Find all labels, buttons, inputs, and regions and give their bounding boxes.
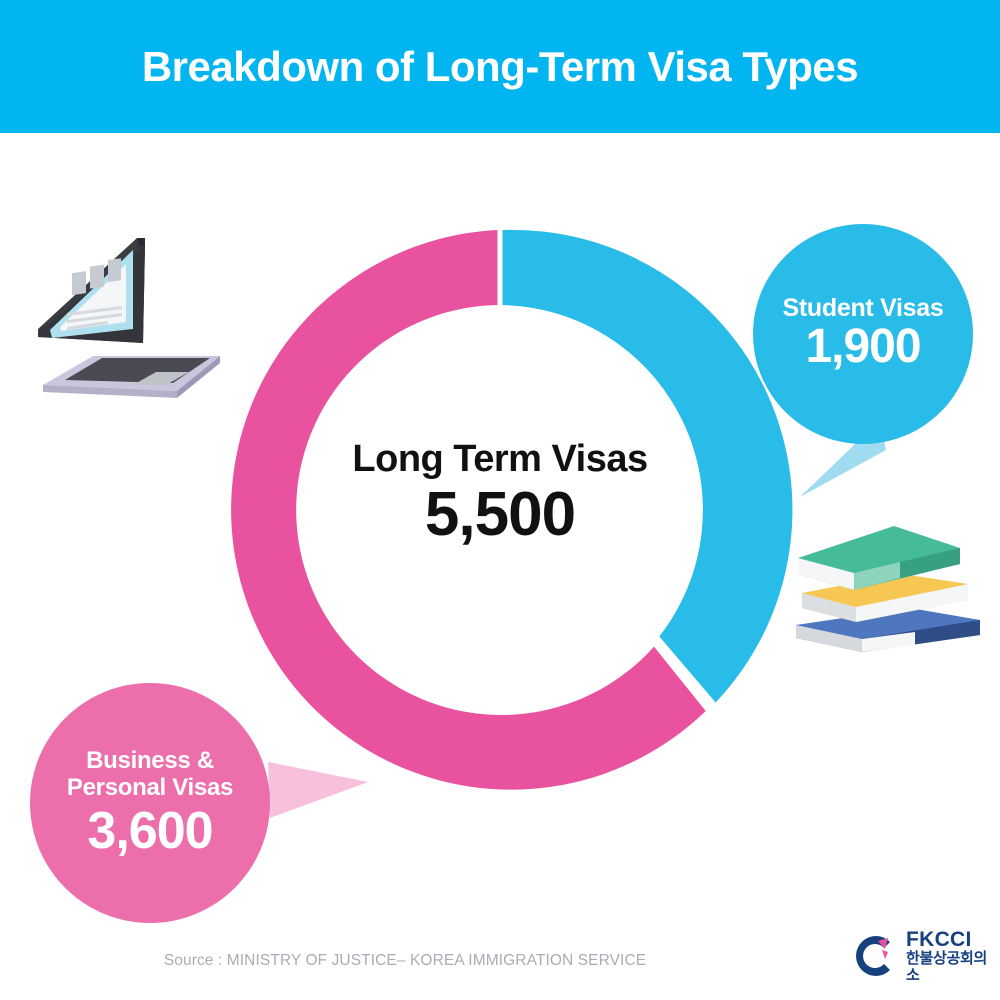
fkcci-logo-mark bbox=[852, 932, 900, 980]
fkcci-logo-text: FKCCI 한불상공회의소 bbox=[906, 928, 992, 984]
callout-student-label: Student Visas bbox=[783, 295, 944, 322]
callout-business-label-line1: Business & bbox=[78, 748, 222, 775]
fkcci-logo-name: FKCCI bbox=[906, 928, 992, 951]
donut-segment-student[interactable] bbox=[503, 230, 793, 703]
business-pointer bbox=[268, 762, 368, 818]
callout-business-visas[interactable]: Business & Personal Visas 3,600 bbox=[30, 683, 270, 923]
fkcci-logo: FKCCI 한불상공회의소 bbox=[852, 930, 992, 982]
callout-business-label-line2: Personal Visas bbox=[59, 775, 241, 802]
callout-student-visas[interactable]: Student Visas 1,900 bbox=[753, 224, 973, 444]
infographic-canvas: Breakdown of Long-Term Visa Types Long T… bbox=[0, 0, 1000, 1000]
callout-business-value: 3,600 bbox=[87, 804, 212, 859]
books-icon bbox=[790, 520, 990, 655]
fkcci-logo-subtitle: 한불상공회의소 bbox=[906, 951, 992, 984]
laptop-icon bbox=[30, 225, 230, 405]
source-note: Source : MINISTRY OF JUSTICE– KOREA IMMI… bbox=[0, 952, 810, 970]
callout-student-value: 1,900 bbox=[805, 322, 920, 372]
